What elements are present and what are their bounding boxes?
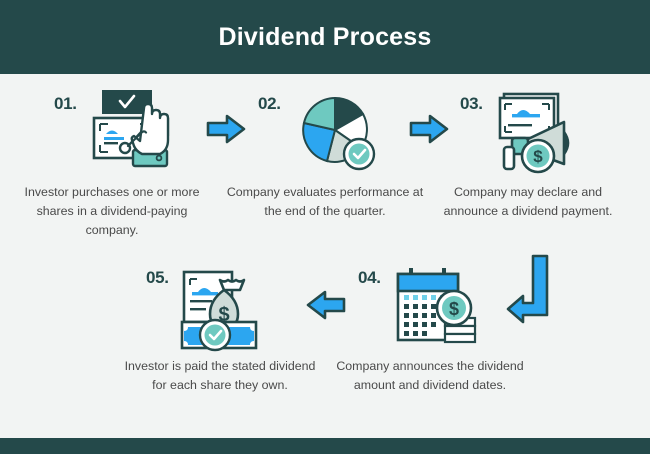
arrow-step3-to-step4 xyxy=(505,253,553,330)
infographic-dividend-process: Dividend Process 01. xyxy=(0,0,650,454)
step-04-caption: Company announces the dividend amount an… xyxy=(330,357,530,395)
step-05-caption: Investor is paid the stated dividend for… xyxy=(120,357,320,395)
step-02-number: 02. xyxy=(258,94,281,114)
hand-click-card-icon xyxy=(84,88,180,180)
step-04: 04. xyxy=(330,262,530,395)
step-05-head: 05. $ xyxy=(120,262,320,357)
megaphone-announcement-dollar-icon: $ xyxy=(490,88,586,180)
step-01-head: 01. xyxy=(12,88,212,183)
step-02: 02. Com xyxy=(225,88,425,221)
step-03-caption: Company may declare and announce a divid… xyxy=(428,183,628,221)
arrow-step4-to-step5 xyxy=(305,288,347,327)
money-bag-banknote-check-icon: $ xyxy=(176,264,272,356)
footer-bar xyxy=(0,438,650,454)
calendar-coins-dollar-icon: $ xyxy=(388,264,484,356)
arrow-step2-to-step3 xyxy=(408,112,450,151)
header-banner: Dividend Process xyxy=(0,0,650,74)
step-05-number: 05. xyxy=(146,268,169,288)
step-02-caption: Company evaluates performance at the end… xyxy=(225,183,425,221)
step-05: 05. $ xyxy=(120,262,320,395)
step-01-number: 01. xyxy=(54,94,77,114)
step-03-number: 03. xyxy=(460,94,483,114)
arrow-step1-to-step2 xyxy=(205,112,247,151)
svg-text:$: $ xyxy=(449,299,459,319)
step-01: 01. xyxy=(12,88,212,240)
step-02-head: 02. xyxy=(225,88,425,183)
step-04-number: 04. xyxy=(358,268,381,288)
step-03-head: 03. xyxy=(428,88,628,183)
step-01-caption: Investor purchases one or more shares in… xyxy=(12,183,212,240)
svg-text:$: $ xyxy=(533,147,543,166)
pie-chart-check-icon xyxy=(287,90,383,182)
page-title: Dividend Process xyxy=(218,23,431,52)
step-03: 03. xyxy=(428,88,628,221)
step-04-head: 04. xyxy=(330,262,530,357)
